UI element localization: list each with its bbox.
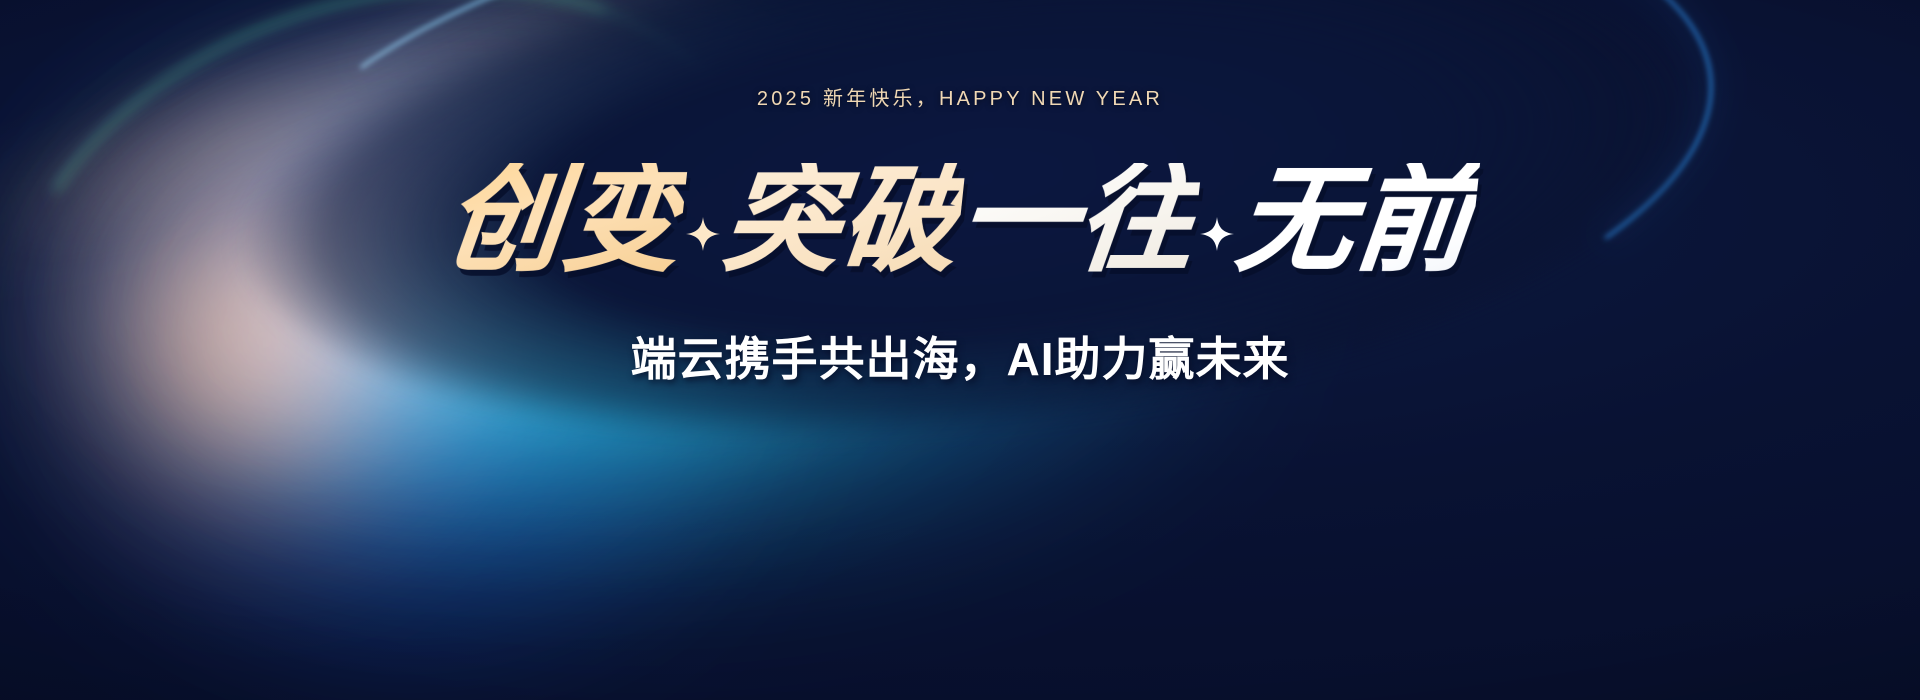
sparkle-icon: [686, 217, 720, 251]
headline: 创变 突破 一往 无前: [446, 163, 1474, 279]
headline-word-wuqian: 无前: [1232, 163, 1480, 279]
tagline-text: 端云携手共出海，AI助力赢未来: [631, 323, 1290, 389]
sparkle-icon-2: [1200, 217, 1234, 251]
headline-word-chuangbian: 创变: [440, 163, 688, 279]
banner-content: 2025 新年快乐，HAPPY NEW YEAR 创变 突破 一往 无前 端云携…: [0, 0, 1920, 700]
eyebrow-text: 2025 新年快乐，HAPPY NEW YEAR: [757, 82, 1163, 111]
headline-word-tupo: 突破: [718, 163, 966, 279]
new-year-banner: 2025 新年快乐，HAPPY NEW YEAR 创变 突破 一往 无前 端云携…: [0, 0, 1920, 700]
headline-word-yiwang: 一往: [954, 163, 1202, 279]
